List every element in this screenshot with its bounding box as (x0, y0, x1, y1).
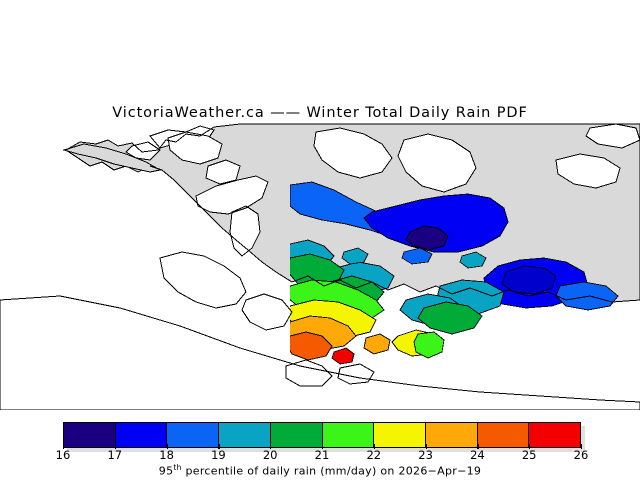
page-title: VictoriaWeather.ca —— Winter Total Daily… (0, 105, 640, 121)
colorbar-tick-label-24: 24 (457, 448, 497, 462)
colorbar-tick-label-20: 20 (250, 448, 290, 462)
colorbar-tick-label-19: 19 (198, 448, 238, 462)
colorbar-segment-22-23 (374, 423, 426, 447)
colorbar-segment-17-18 (116, 423, 168, 447)
map-figure (0, 0, 640, 410)
colorbar-segment-21-22 (323, 423, 375, 447)
colorbar-tick-group: 1617181920212223242526 (0, 448, 640, 464)
colorbar-segment-19-20 (219, 423, 271, 447)
colorbar: 1617181920212223242526 95th percentile o… (0, 418, 640, 480)
colorbar-segment-25-26 (529, 423, 580, 447)
contour-east-core-16-17 (502, 266, 556, 294)
colorbar-tick-label-23: 23 (406, 448, 446, 462)
colorbar-tick-label-26: 26 (561, 448, 601, 462)
caption-superscript: th (173, 463, 181, 472)
colorbar-tick-label-21: 21 (302, 448, 342, 462)
colorbar-tick-label-25: 25 (509, 448, 549, 462)
colorbar-segment-16-17 (64, 423, 116, 447)
colorbar-segment-24-25 (478, 423, 530, 447)
colorbar-segment-20-21 (271, 423, 323, 447)
colorbar-segment-18-19 (167, 423, 219, 447)
colorbar-tick-label-18: 18 (147, 448, 187, 462)
colorbar-tick-label-22: 22 (354, 448, 394, 462)
weather-map-page: VictoriaWeather.ca —— Winter Total Daily… (0, 0, 640, 480)
colorbar-segment-23-24 (426, 423, 478, 447)
colorbar-tick-label-16: 16 (43, 448, 83, 462)
colorbar-tick-label-17: 17 (95, 448, 135, 462)
colorbar-caption: 95th percentile of daily rain (mm/day) o… (0, 463, 640, 478)
